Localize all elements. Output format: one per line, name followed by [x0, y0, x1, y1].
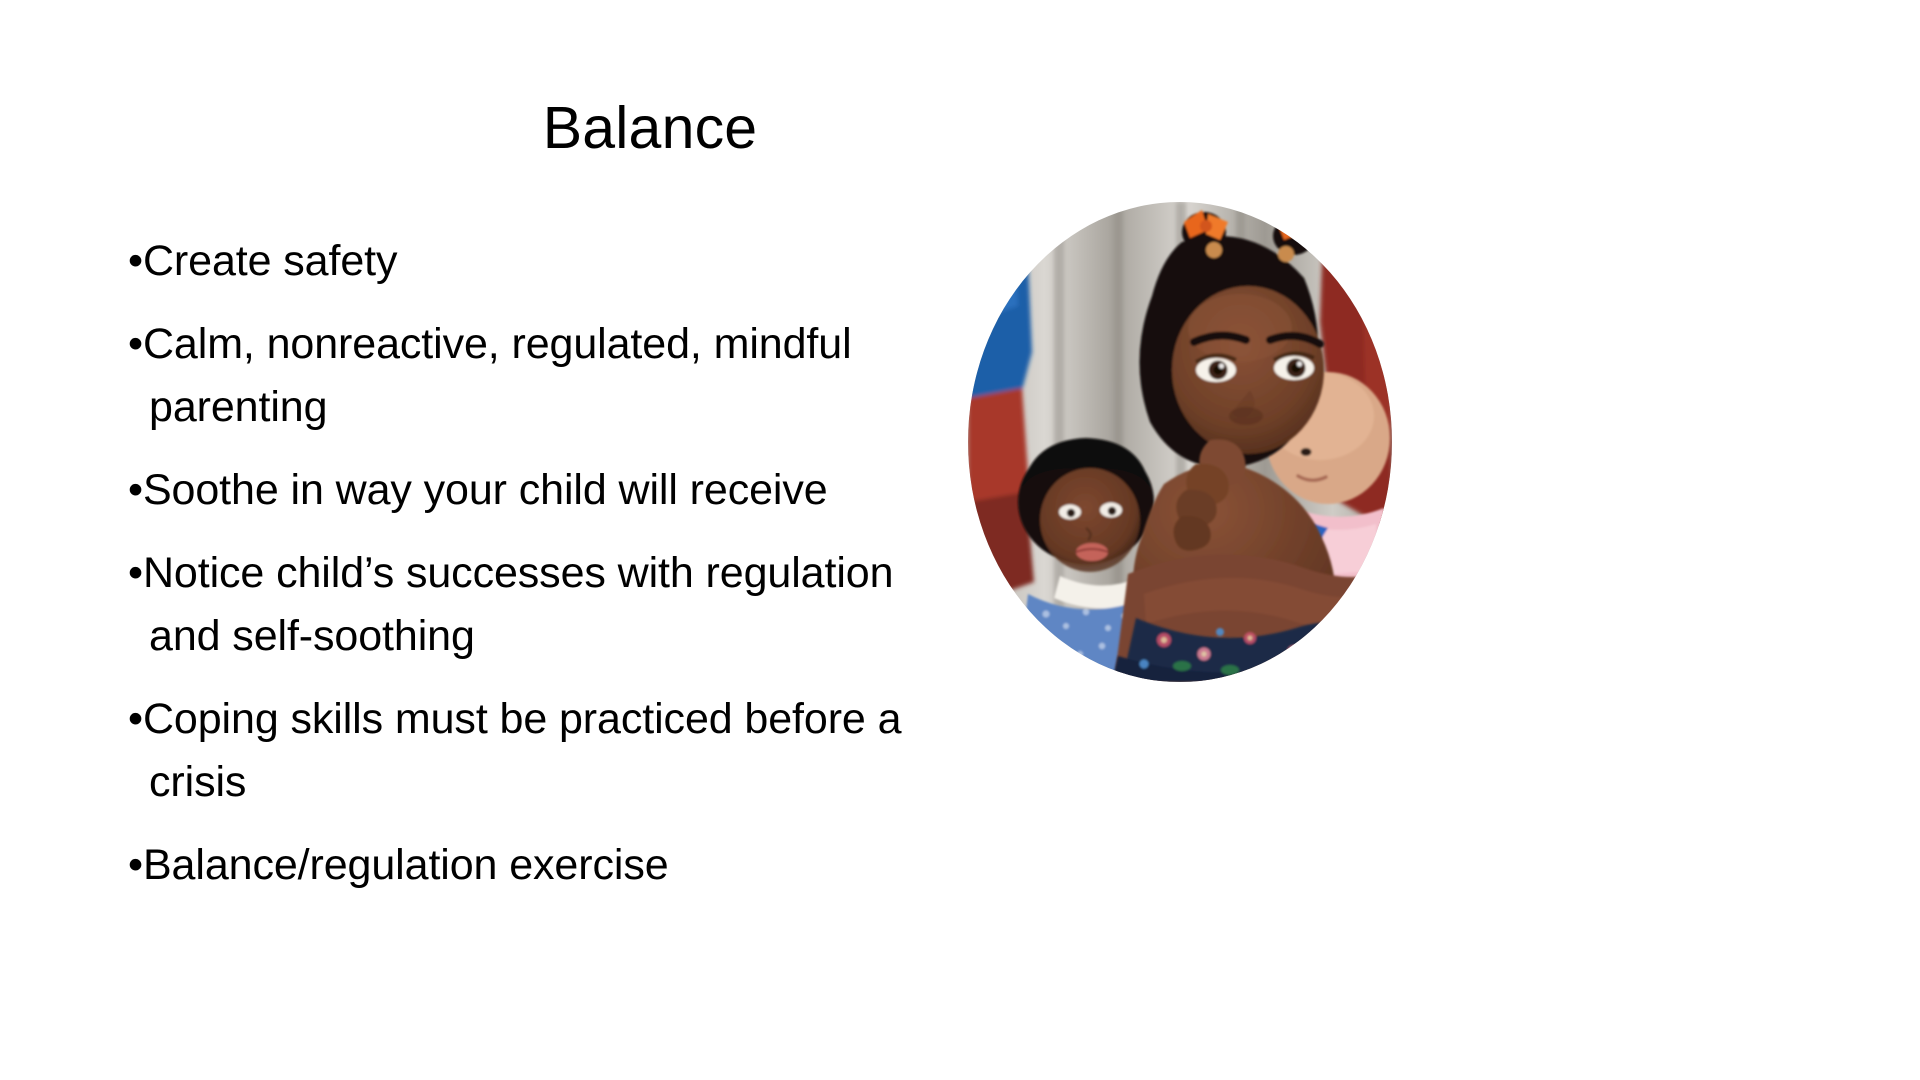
bullet-icon: • [128, 695, 143, 743]
bullet-icon: • [128, 237, 143, 285]
list-item: •Create safety [128, 230, 948, 293]
list-item-text: Balance/regulation exercise [143, 841, 669, 889]
list-item: •Balance/regulation exercise [128, 834, 948, 897]
list-item: •Soothe in way your child will receive [128, 459, 948, 522]
slide-photo [968, 202, 1392, 682]
bullet-icon: • [128, 320, 143, 368]
list-item-text: Notice child’s successes with regulation… [143, 549, 893, 660]
bullet-icon: • [128, 841, 143, 889]
page-title: Balance [150, 92, 1150, 164]
title-placeholder: Balance [150, 92, 1150, 172]
list-item: •Coping skills must be practiced before … [128, 688, 948, 814]
bullet-icon: • [128, 549, 143, 597]
bullet-icon: • [128, 466, 143, 514]
content-placeholder: •Create safety •Calm, nonreactive, regul… [128, 230, 948, 897]
list-item: •Notice child’s successes with regulatio… [128, 542, 948, 668]
list-item-text: Create safety [143, 237, 397, 285]
list-item-text: Calm, nonreactive, regulated, mindful pa… [143, 320, 852, 431]
slide-canvas: Balance •Create safety •Calm, nonreactiv… [0, 0, 1920, 1080]
photo-illustration [968, 202, 1392, 682]
list-item-text: Soothe in way your child will receive [143, 466, 828, 514]
list-item: •Calm, nonreactive, regulated, mindful p… [128, 313, 948, 439]
list-item-text: Coping skills must be practiced before a… [143, 695, 901, 806]
